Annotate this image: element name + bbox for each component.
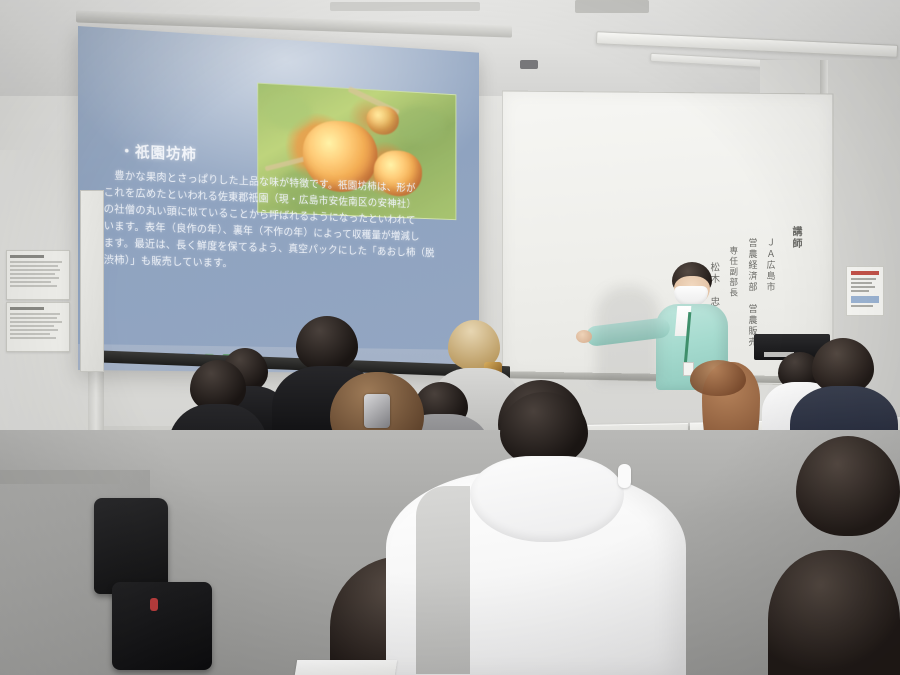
- baseboard: [0, 470, 120, 484]
- slide-title: ・祇園坊柿: [119, 140, 196, 164]
- head: [768, 550, 900, 675]
- slide-body: 豊かな果肉とさっぱりした上品な味が特徴です。祇園坊柿は、形が これを広めたといわ…: [104, 167, 457, 278]
- wall-notice: [846, 266, 884, 316]
- head: [690, 360, 746, 396]
- classroom-photo: 講師 ＪＡ広島市 営農経済部 営農販売 専任副部長 松木 忠幸 先生 ・祇園坊柿…: [0, 0, 900, 675]
- black-tote-bag-front: [112, 582, 212, 670]
- silver-hair-clip-icon: [364, 394, 390, 428]
- ceiling-rail: [330, 2, 480, 11]
- side-whiteboard: [80, 190, 104, 372]
- presenter-hand: [576, 330, 592, 343]
- presentation-slide: ・祇園坊柿 豊かな果肉とさっぱりした上品な味が特徴です。祇園坊柿は、形が これを…: [78, 26, 479, 374]
- head: [796, 436, 900, 536]
- whiteboard-line-1: ＪＡ広島市: [762, 238, 776, 293]
- projection-screen[interactable]: ・祇園坊柿 豊かな果肉とさっぱりした上品な味が特徴です。祇園坊柿は、形が これを…: [78, 26, 479, 374]
- whiteboard-heading: 講師: [788, 226, 803, 250]
- timetable-poster-upper: [6, 250, 70, 300]
- student-front-grey-shoulder: [416, 486, 470, 674]
- hoodie-drawstring-overlay: [618, 464, 631, 488]
- black-backpack-front: [94, 498, 168, 594]
- handout-papers-front-overlay: [295, 660, 397, 675]
- head: [296, 316, 358, 372]
- ceiling-vent: [575, 0, 649, 13]
- timetable-poster-lower: [6, 302, 70, 352]
- whiteboard-line-2: 営農経済部 営農販売: [744, 238, 758, 348]
- whiteboard-line-3: 専任副部長: [726, 246, 739, 299]
- presenter-shadow: [596, 286, 660, 382]
- student-front-1-head-overlay: [500, 392, 588, 466]
- bag-zipper-pull-front: [150, 598, 158, 611]
- ceiling-vent-small: [520, 60, 538, 69]
